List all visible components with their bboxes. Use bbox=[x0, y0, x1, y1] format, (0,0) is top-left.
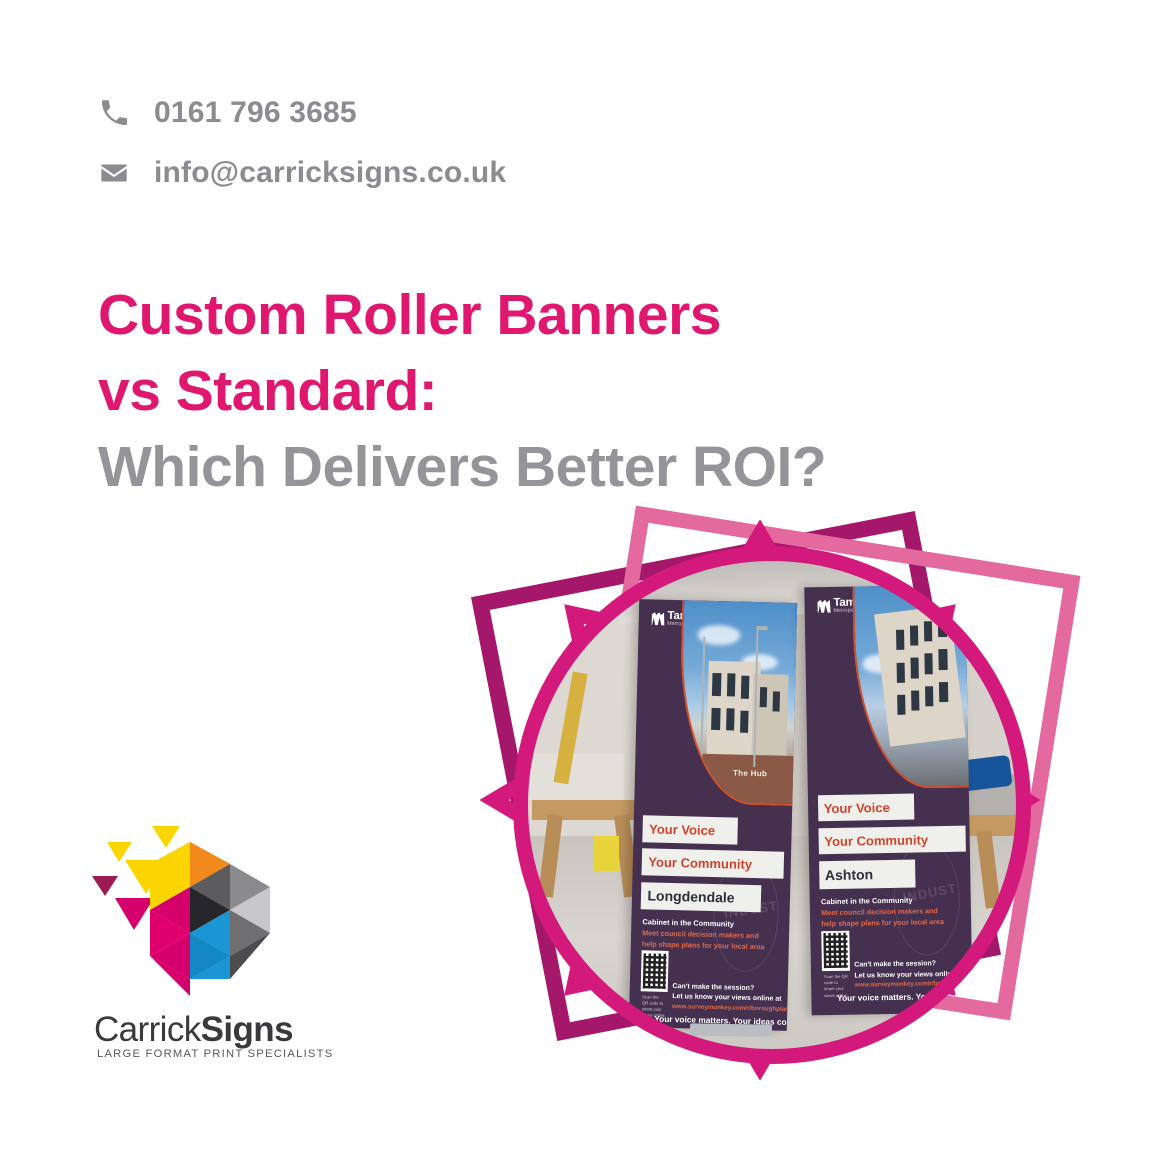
headline-line-1: Custom Roller Banners bbox=[98, 278, 1058, 354]
logo-wordmark: CarrickSigns bbox=[94, 1010, 322, 1050]
poster-canvas: 0161 796 3685 info@carricksigns.co.uk Cu… bbox=[0, 0, 1152, 1152]
email-row[interactable]: info@carricksigns.co.uk bbox=[98, 150, 506, 196]
carricksigns-logo[interactable]: CarrickSigns LARGE FORMAT PRINT SPECIALI… bbox=[92, 824, 322, 1074]
circle-ring bbox=[513, 546, 1031, 1064]
phone-icon bbox=[98, 96, 140, 130]
phone-number: 0161 796 3685 bbox=[154, 96, 357, 130]
headline-line-2: vs Standard: bbox=[98, 354, 1058, 430]
logo-tagline: LARGE FORMAT PRINT SPECIALISTS bbox=[97, 1048, 333, 1060]
logo-word-carrick: Carrick bbox=[94, 1010, 201, 1049]
contact-block: 0161 796 3685 info@carricksigns.co.uk bbox=[98, 90, 506, 210]
page-title: Custom Roller Banners vs Standard: Which… bbox=[98, 278, 1058, 505]
carrick-cube-icon bbox=[92, 824, 292, 999]
email-address: info@carricksigns.co.uk bbox=[154, 156, 506, 190]
envelope-icon bbox=[98, 156, 140, 190]
logo-word-signs: Signs bbox=[201, 1010, 293, 1049]
phone-row[interactable]: 0161 796 3685 bbox=[98, 90, 506, 136]
hero-image-composition: Tameside Metropolitan Borough bbox=[470, 515, 1130, 1145]
headline-line-3: Which Delivers Better ROI? bbox=[98, 430, 1058, 506]
